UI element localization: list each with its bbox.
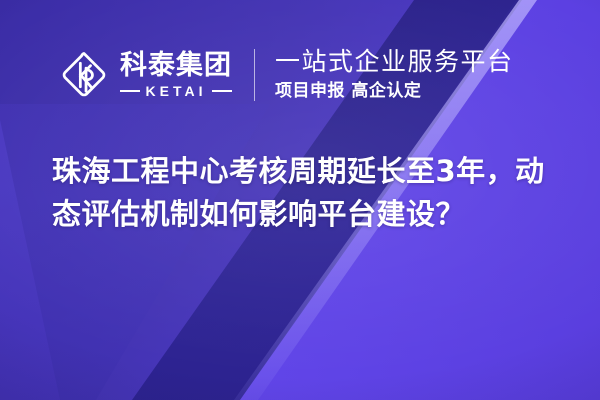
logo-dash-left: [120, 90, 140, 92]
brand-tagline: 一站式企业服务平台 项目申报 高企认定: [275, 48, 514, 101]
logo-company-name-cn: 科泰集团: [120, 52, 232, 79]
logo-wordmark: 科泰集团 KETAI: [120, 52, 232, 98]
logo-dash-right: [212, 90, 232, 92]
logo-english-row: KETAI: [120, 84, 232, 98]
header-divider: [254, 49, 255, 101]
ketai-diamond-kp-monogram-icon: [58, 49, 110, 101]
tagline-secondary: 项目申报 高企认定: [275, 81, 514, 101]
headline-text: 珠海工程中心考核周期延长至3年，动态评估机制如何影响平台建设？: [52, 150, 570, 236]
promo-banner: 科泰集团 KETAI 一站式企业服务平台 项目申报 高企认定 珠海工程中心考核周…: [0, 0, 600, 400]
banner-header: 科泰集团 KETAI 一站式企业服务平台 项目申报 高企认定: [0, 38, 600, 112]
tagline-primary: 一站式企业服务平台: [275, 48, 514, 76]
logo-company-name-en: KETAI: [146, 84, 207, 98]
brand-logo: 科泰集团 KETAI: [58, 49, 232, 101]
